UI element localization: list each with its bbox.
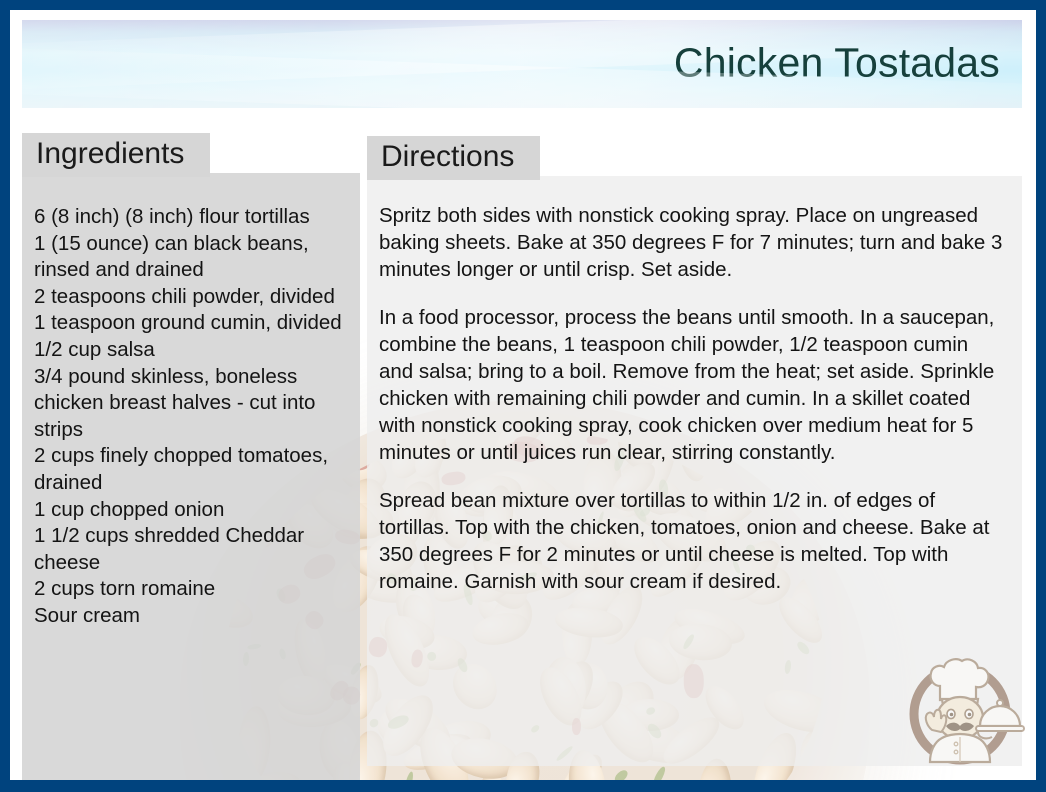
- direction-paragraph: Spritz both sides with nonstick cooking …: [379, 202, 1006, 283]
- tab-directions: Directions: [367, 136, 540, 180]
- ingredient-item: Sour cream: [34, 603, 350, 630]
- ingredient-list: 6 (8 inch) (8 inch) flour tortillas1 (15…: [34, 204, 350, 630]
- bean-shape: [478, 770, 511, 780]
- recipe-card-inner: Chicken Tostadas Ingredients Directions …: [10, 10, 1036, 780]
- ingredient-item: 1 teaspoon ground cumin, divided: [34, 310, 350, 337]
- title-banner: Chicken Tostadas: [22, 20, 1022, 108]
- herb-fleck: [652, 765, 668, 780]
- page-title: Chicken Tostadas: [674, 40, 1000, 87]
- ingredient-item: 1/2 cup salsa: [34, 337, 350, 364]
- ingredients-heading: Ingredients: [36, 137, 184, 170]
- recipe-card-frame: Chicken Tostadas Ingredients Directions …: [0, 0, 1046, 792]
- tab-ingredients: Ingredients: [22, 133, 210, 177]
- ingredient-item: 2 cups torn romaine: [34, 576, 350, 603]
- ingredient-item: 3/4 pound skinless, boneless chicken bre…: [34, 364, 350, 444]
- ingredient-item: 1 cup chopped onion: [34, 497, 350, 524]
- direction-paragraph: In a food processor, process the beans u…: [379, 304, 1006, 466]
- ingredients-panel: 6 (8 inch) (8 inch) flour tortillas1 (15…: [22, 173, 360, 780]
- chef-mascot-logo: [894, 642, 1026, 774]
- direction-paragraph: Spread bean mixture over tortillas to wi…: [379, 487, 1006, 595]
- ingredient-item: 6 (8 inch) (8 inch) flour tortillas: [34, 204, 350, 231]
- bean-shape: [753, 766, 798, 780]
- ingredient-item: 1 (15 ounce) can black beans, rinsed and…: [34, 231, 350, 284]
- ingredient-item: 2 teaspoons chili powder, divided: [34, 284, 350, 311]
- herb-fleck: [613, 769, 630, 780]
- directions-heading: Directions: [381, 140, 514, 173]
- ingredient-item: 1 1/2 cups shredded Cheddar cheese: [34, 523, 350, 576]
- herb-fleck: [403, 771, 415, 780]
- ingredient-item: 2 cups finely chopped tomatoes, drained: [34, 443, 350, 496]
